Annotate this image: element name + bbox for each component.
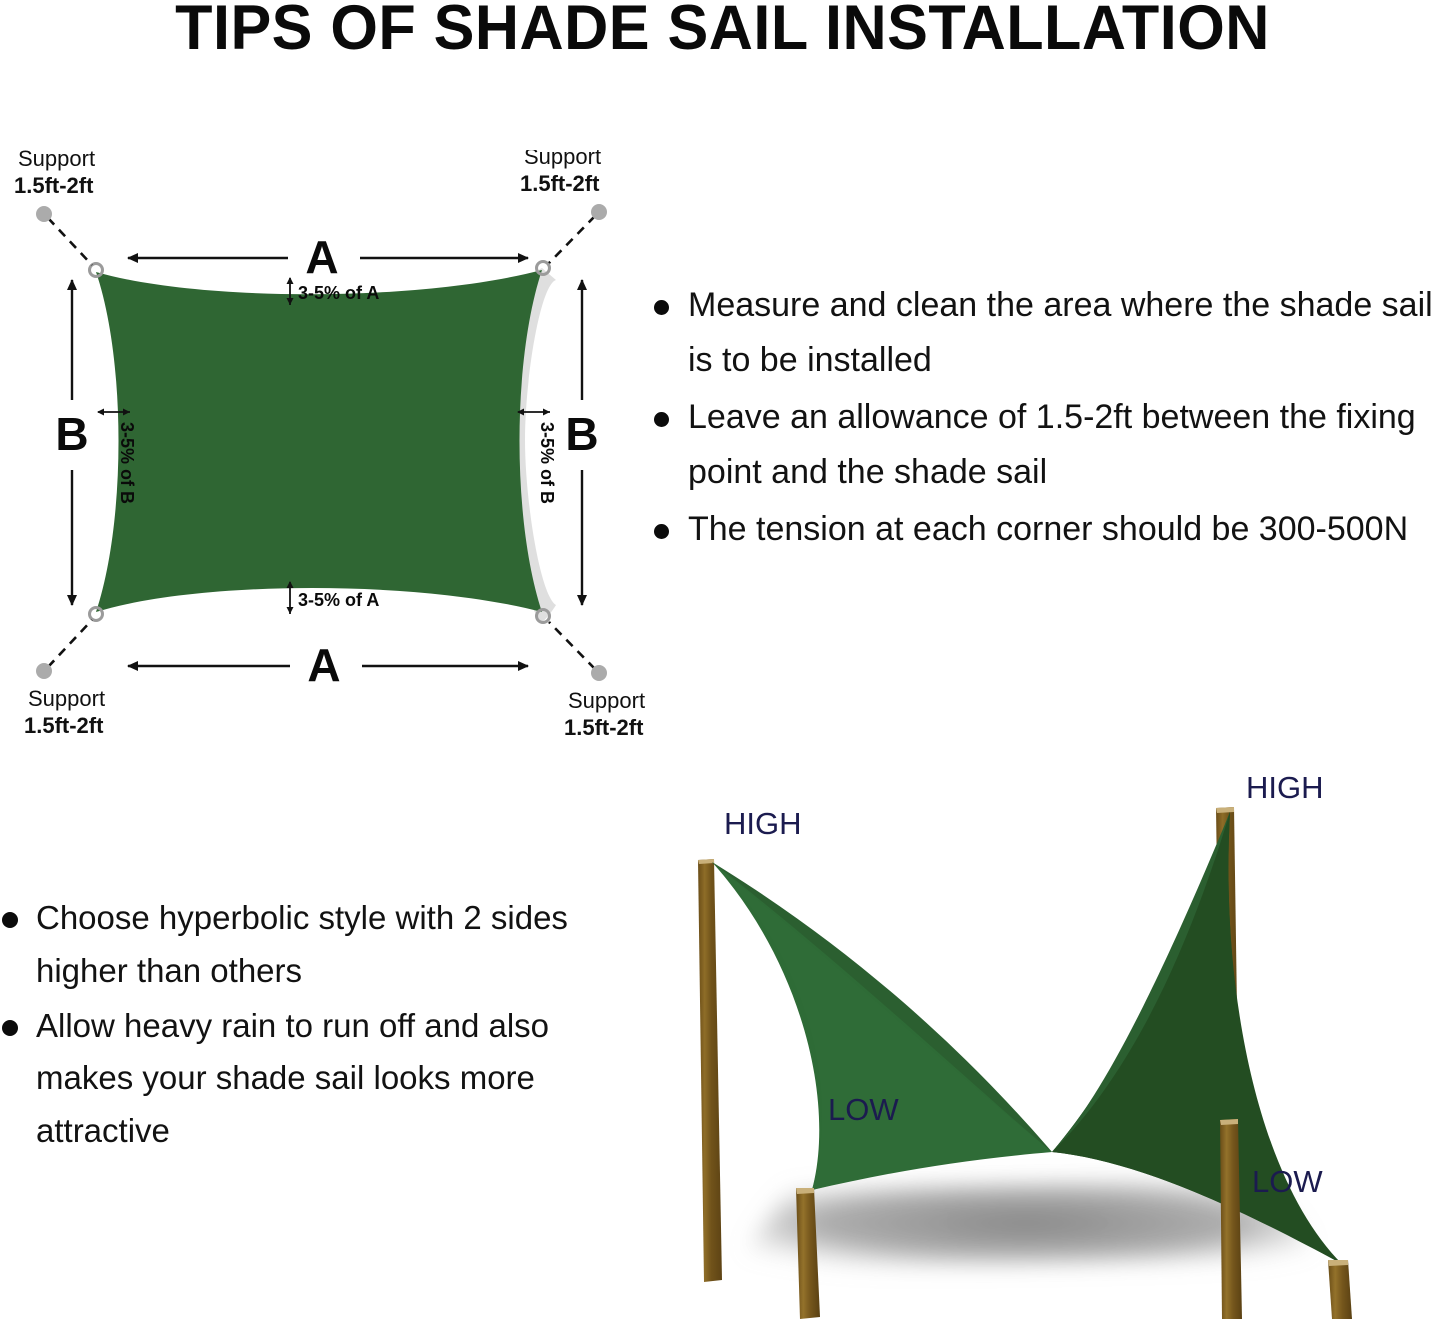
list-item: Measure and clean the area where the sha… [648, 278, 1445, 388]
support-label-line1: Support [28, 686, 105, 711]
tip-text: Leave an allowance of 1.5-2ft between th… [688, 398, 1416, 491]
list-item: The tension at each corner should be 300… [648, 502, 1445, 557]
bullet-dot-icon [654, 300, 669, 315]
label-low-left: LOW [828, 1092, 899, 1127]
curvature-label-left: 3-5% of B [117, 422, 137, 504]
bullet-dot-icon [2, 1020, 18, 1036]
dimension-label-B-left: B [55, 408, 88, 460]
support-label-top-right: Support 1.5ft-2ft [520, 150, 601, 196]
support-label-line2: 1.5ft-2ft [564, 715, 644, 740]
sail-left-lobe [712, 862, 1052, 1190]
page-title: TIPS OF SHADE SAIL INSTALLATION [22, 0, 1424, 63]
support-label-bottom-right: Support 1.5ft-2ft [564, 688, 645, 740]
support-label-line1: Support [524, 150, 601, 169]
sail-fabric [96, 270, 542, 612]
dimension-label-A-top: A [305, 231, 338, 283]
bullet-dot-icon [2, 912, 18, 928]
rectangular-sail-diagram: A 3-5% of A A 3-5% of A B 3-5% of B B 3-… [0, 150, 660, 740]
list-item: Choose hyperbolic style with 2 sides hig… [0, 892, 625, 998]
tip-text: Measure and clean the area where the sha… [688, 286, 1433, 379]
label-low-right: LOW [1252, 1164, 1323, 1199]
list-item: Allow heavy rain to run off and also mak… [0, 1000, 625, 1158]
support-label-line2: 1.5ft-2ft [520, 171, 600, 196]
hyperbolic-sail-illustration: HIGH HIGH LOW LOW [660, 760, 1445, 1319]
list-item: Leave an allowance of 1.5-2ft between th… [648, 390, 1445, 500]
support-label-bottom-left: Support 1.5ft-2ft [24, 686, 105, 738]
support-anchor-top-right [549, 204, 607, 263]
curvature-label-bottom: 3-5% of A [298, 590, 379, 610]
support-anchor-top-left [36, 206, 92, 265]
tips-list-hyperbolic: Choose hyperbolic style with 2 sides hig… [0, 892, 625, 1160]
tip-text: The tension at each corner should be 300… [688, 510, 1408, 548]
support-anchor-bottom-right [549, 622, 607, 681]
support-label-line2: 1.5ft-2ft [14, 173, 94, 198]
support-label-top-left: Support 1.5ft-2ft [14, 150, 95, 198]
label-high-left: HIGH [724, 806, 802, 841]
hyperbolic-sail-svg: HIGH HIGH LOW LOW [660, 760, 1445, 1319]
rectangular-sail-svg: A 3-5% of A A 3-5% of A B 3-5% of B B 3-… [0, 150, 660, 740]
post-low-right [1328, 1260, 1352, 1319]
tip-text: Choose hyperbolic style with 2 sides hig… [36, 899, 568, 989]
bullet-dot-icon [654, 412, 669, 427]
support-label-line2: 1.5ft-2ft [24, 713, 104, 738]
bullet-dot-icon [654, 524, 669, 539]
grommet-bottom-left [90, 608, 103, 621]
tip-text: Allow heavy rain to run off and also mak… [36, 1007, 549, 1150]
support-anchor-bottom-left [36, 620, 92, 679]
tips-list: Choose hyperbolic style with 2 sides hig… [0, 892, 625, 1158]
label-high-right: HIGH [1246, 770, 1324, 805]
post-high-left [698, 859, 722, 1282]
curvature-label-top: 3-5% of A [298, 283, 379, 303]
support-label-line1: Support [568, 688, 645, 713]
tips-list-installation: Measure and clean the area where the sha… [648, 278, 1445, 559]
dimension-label-B-right: B [565, 408, 598, 460]
tips-list: Measure and clean the area where the sha… [648, 278, 1445, 557]
curvature-label-right: 3-5% of B [537, 422, 557, 504]
dimension-label-A-bottom: A [307, 639, 340, 691]
support-label-line1: Support [18, 150, 95, 171]
